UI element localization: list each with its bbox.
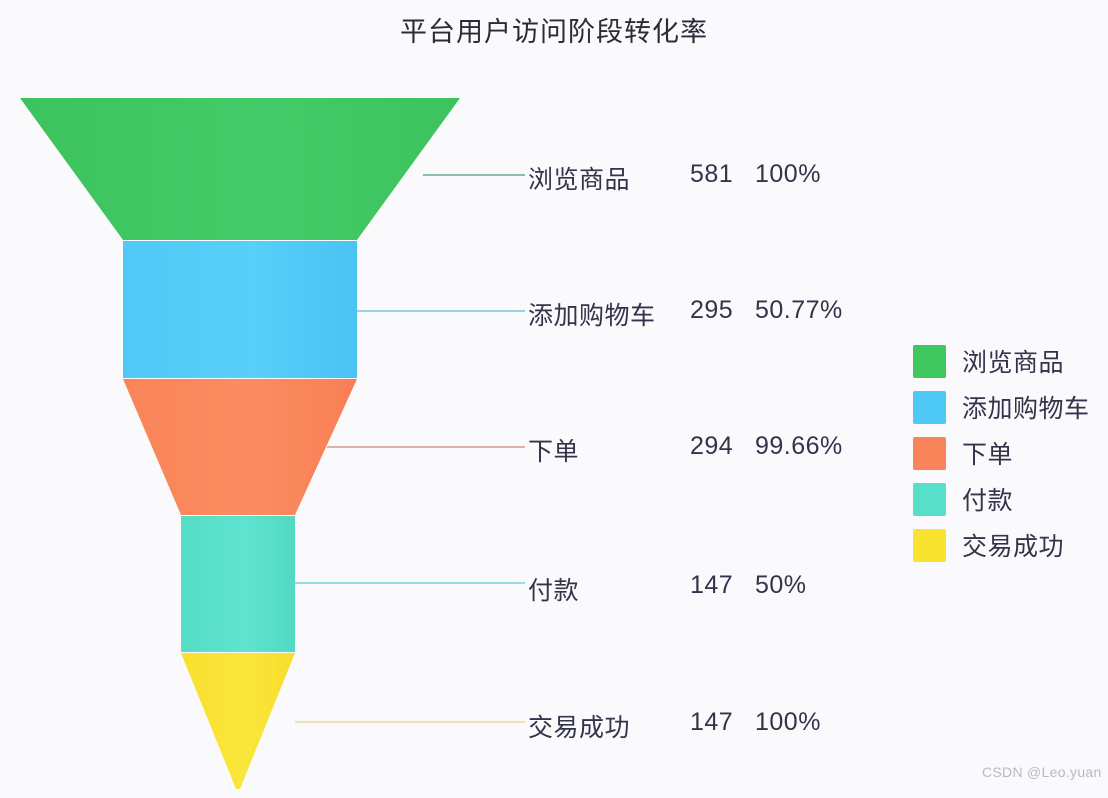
stage-value-3: 294 bbox=[690, 432, 733, 461]
stage-name-2: 添加购物车 bbox=[528, 296, 656, 332]
funnel-segment-3[interactable] bbox=[123, 379, 357, 515]
legend-item-4[interactable]: 交易成功 bbox=[913, 522, 1098, 568]
legend-label: 浏览商品 bbox=[962, 343, 1064, 379]
legend-label: 付款 bbox=[962, 481, 1013, 517]
stage-percent-4: 50% bbox=[755, 571, 807, 600]
legend-item-1[interactable]: 添加购物车 bbox=[913, 384, 1098, 430]
stage-name-1: 浏览商品 bbox=[528, 160, 630, 196]
stage-value-5: 147 bbox=[690, 708, 733, 737]
funnel-segment-1[interactable] bbox=[20, 98, 460, 240]
stage-percent-2: 50.77% bbox=[755, 296, 843, 325]
legend-item-3[interactable]: 付款 bbox=[913, 476, 1098, 522]
legend-item-2[interactable]: 下单 bbox=[913, 430, 1098, 476]
stage-percent-5: 100% bbox=[755, 708, 821, 737]
legend-swatch-icon bbox=[913, 483, 946, 516]
legend-label: 交易成功 bbox=[962, 527, 1064, 563]
legend-label: 下单 bbox=[962, 435, 1013, 471]
funnel-segment-5[interactable] bbox=[181, 653, 295, 789]
legend-swatch-icon bbox=[913, 345, 946, 378]
stage-percent-3: 99.66% bbox=[755, 432, 843, 461]
stage-value-1: 581 bbox=[690, 160, 733, 189]
stage-value-4: 147 bbox=[690, 571, 733, 600]
funnel-chart: 平台用户访问阶段转化率 bbox=[0, 0, 1108, 798]
legend-label: 添加购物车 bbox=[962, 389, 1090, 425]
stage-name-4: 付款 bbox=[528, 571, 579, 607]
stage-value-2: 295 bbox=[690, 296, 733, 325]
watermark: CSDN @Leo.yuan bbox=[982, 764, 1102, 780]
legend-item-0[interactable]: 浏览商品 bbox=[913, 338, 1098, 384]
legend-swatch-icon bbox=[913, 391, 946, 424]
stage-name-5: 交易成功 bbox=[528, 708, 630, 744]
funnel-segment-4[interactable] bbox=[181, 516, 295, 652]
stage-name-3: 下单 bbox=[528, 432, 579, 468]
legend-swatch-icon bbox=[913, 437, 946, 470]
funnel-segment-2[interactable] bbox=[123, 241, 357, 378]
stage-percent-1: 100% bbox=[755, 160, 821, 189]
legend: 浏览商品 添加购物车 下单 付款 交易成功 bbox=[913, 338, 1098, 568]
legend-swatch-icon bbox=[913, 529, 946, 562]
